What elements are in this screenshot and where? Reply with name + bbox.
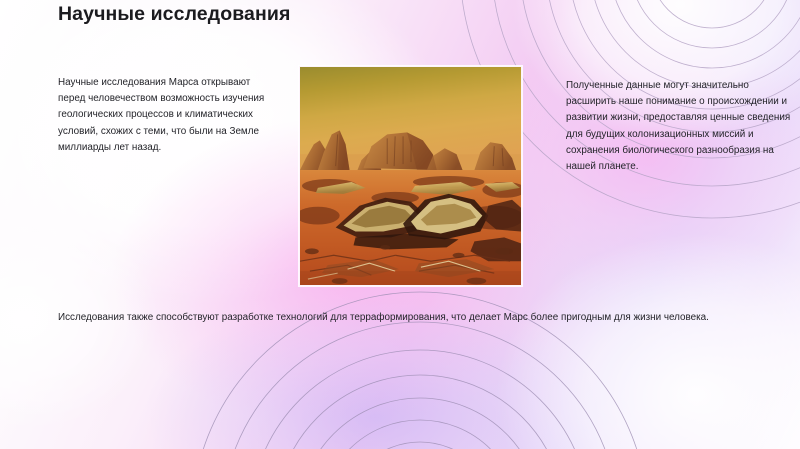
paragraph-right: Полученные данные могут значительно расш… [566,78,792,175]
slide: Научные исследования Научные исследовани… [0,0,800,449]
background-wash-bottom-right [496,233,800,449]
paragraph-left: Научные исследования Марса открывают пер… [58,75,280,156]
paragraph-bottom: Исследования также способствуют разработ… [58,310,758,326]
mars-landscape-image [300,67,521,285]
image-frame [299,66,522,286]
page-title: Научные исследования [58,3,290,26]
